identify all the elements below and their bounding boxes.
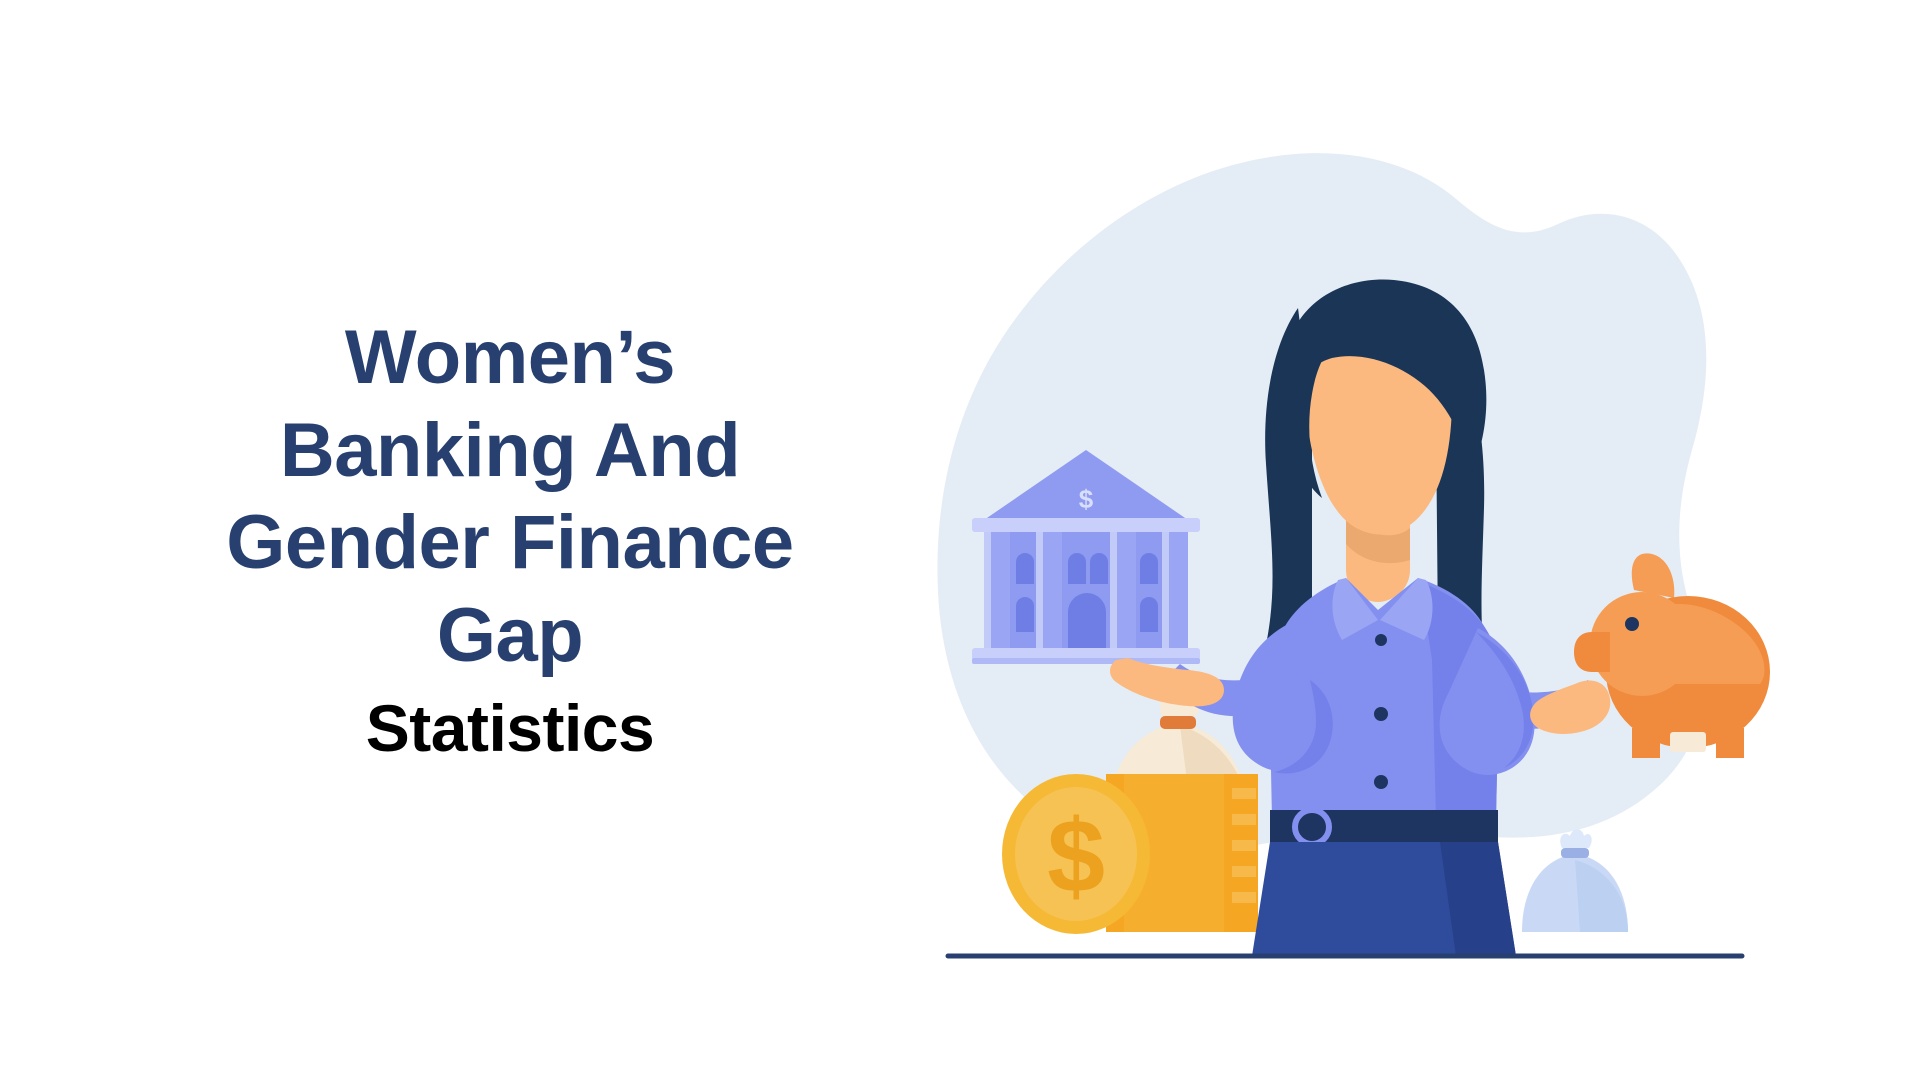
coin-stack-ridge [1232, 840, 1256, 851]
bank-window [1016, 553, 1034, 584]
bank-window [1068, 553, 1086, 584]
money-bag-blue-tie [1561, 848, 1589, 858]
bank-column-highlight [984, 532, 991, 654]
piggy-snout [1574, 632, 1610, 672]
shirt-button [1374, 775, 1388, 789]
bank-cornice [972, 518, 1200, 532]
bank-column-highlight [1162, 532, 1169, 654]
coin-stack-ridge [1232, 788, 1256, 799]
piggy-coin-slot [1670, 732, 1706, 752]
gold-coin: $ [1002, 774, 1150, 934]
piggy-leg [1716, 728, 1744, 758]
bank-column-highlight [1036, 532, 1043, 654]
illustration: $ [880, 120, 1780, 960]
bank-base-shadow [972, 658, 1200, 664]
shirt-button [1375, 634, 1387, 646]
title-block: Women’s Banking And Gender Finance Gap S… [130, 0, 890, 1080]
coin-stack-ridge [1232, 866, 1256, 877]
bank-window [1016, 597, 1034, 632]
bank-window [1140, 597, 1158, 632]
hero-banner: Women’s Banking And Gender Finance Gap S… [0, 0, 1920, 1080]
bank-window [1090, 553, 1108, 584]
bank-window [1140, 553, 1158, 584]
piggy-leg [1632, 728, 1660, 758]
shirt-button [1374, 707, 1388, 721]
illustration-svg: $ [880, 120, 1780, 960]
money-bag-cream-tie [1160, 716, 1196, 729]
bank-column-highlight [1110, 532, 1117, 654]
bank-dollar-icon: $ [1079, 484, 1094, 514]
page-subtitle: Statistics [366, 689, 654, 768]
piggy-eye [1625, 617, 1639, 631]
coin-stack-ridge [1232, 814, 1256, 825]
money-bag-blue [1522, 829, 1628, 932]
gold-coin-dollar-icon: $ [1047, 799, 1105, 915]
bank-door [1068, 593, 1106, 654]
page-title: Women’s Banking And Gender Finance Gap [226, 312, 793, 683]
coin-stack-ridge [1232, 892, 1256, 903]
